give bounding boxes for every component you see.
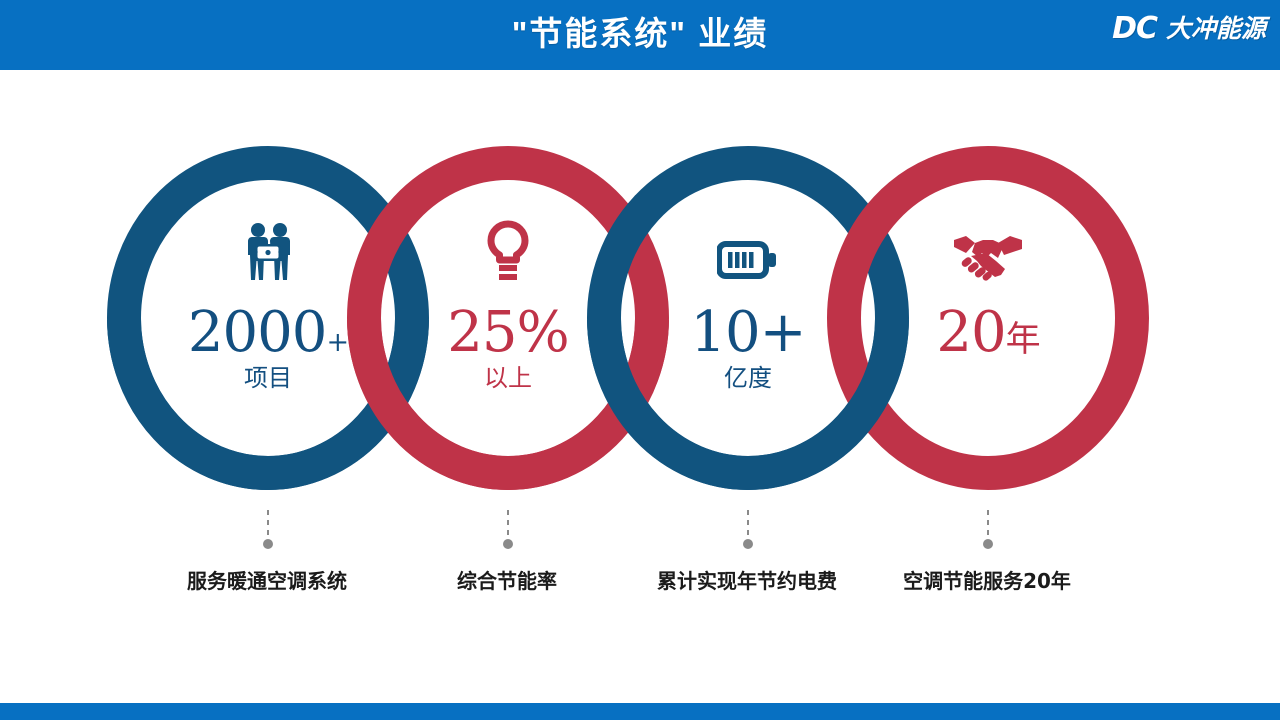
connector-dot bbox=[503, 539, 513, 549]
page-title: "节能系统" 业绩 bbox=[0, 0, 1280, 70]
caption-electricity: 累计实现年节约电费 bbox=[627, 565, 867, 594]
caption-projects: 服务暖通空调系统 bbox=[147, 565, 387, 594]
company-logo: DC 大冲能源 bbox=[1112, 14, 1266, 44]
connector-projects bbox=[267, 510, 269, 544]
interlocking-rings bbox=[0, 70, 1280, 703]
connector-dot bbox=[983, 539, 993, 549]
connector-dot bbox=[263, 539, 273, 549]
footer-bar bbox=[0, 703, 1280, 720]
connector-electricity bbox=[747, 510, 749, 544]
connector-dot bbox=[743, 539, 753, 549]
connector-saving-rate bbox=[507, 510, 509, 544]
header-bar: "节能系统" 业绩 DC 大冲能源 bbox=[0, 0, 1280, 70]
connector-years bbox=[987, 510, 989, 544]
logo-company-name: 大冲能源 bbox=[1166, 17, 1266, 42]
caption-saving-rate: 综合节能率 bbox=[387, 565, 627, 594]
caption-years: 空调节能服务20年 bbox=[867, 565, 1107, 594]
logo-mark-dc: DC bbox=[1112, 14, 1157, 44]
stats-stage: 2000+ 项目 25% 以上 bbox=[0, 70, 1280, 703]
